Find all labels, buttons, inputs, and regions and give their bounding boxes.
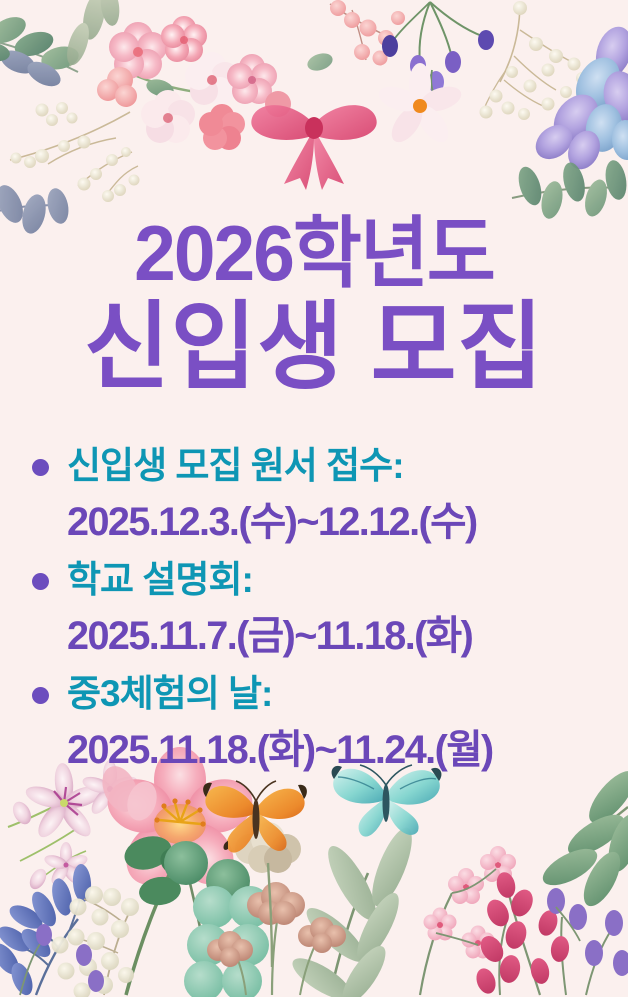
babys-breath-cluster — [52, 886, 140, 997]
rose-stem — [121, 831, 212, 995]
page-title-line2: 신입생 모집 — [9, 298, 618, 399]
eucalyptus-branch-left — [0, 12, 81, 91]
page-title-line1: 2026학년도 — [13, 214, 616, 292]
pink-cherry-blossom-cluster — [97, 16, 291, 150]
pink-ribbon-bow — [251, 105, 376, 190]
long-green-leaf-branch — [287, 823, 420, 997]
list-item: 신입생 모집 원서 접수: 2025.12.3.(수)~12.12.(수) — [0, 443, 628, 557]
violet-petal-cluster — [529, 22, 628, 174]
white-daisy-flower — [376, 63, 465, 147]
small-pink-blossoms — [420, 846, 516, 995]
bottom-floral-border — [0, 767, 628, 997]
schedule-label: 신입생 모집 원서 접수: — [67, 443, 404, 489]
beige-berry-sprig-left — [10, 102, 140, 202]
top-floral-border — [0, 0, 628, 230]
right-leaf-branch — [537, 764, 628, 911]
list-item: 중3체험의 날: 2025.11.18.(화)~11.24.(월) — [0, 671, 628, 785]
poster-canvas: 2026학년도 신입생 모집 신입생 모집 원서 접수: 2025.12.3.(… — [0, 0, 628, 997]
blue-bud-sprig — [0, 863, 92, 997]
small-lone-leaf — [305, 50, 335, 73]
headline-block: 2026학년도 신입생 모집 — [0, 214, 628, 399]
purple-bud-sprig — [20, 888, 628, 995]
schedule-date: 2025.11.18.(화)~11.24.(월) — [67, 726, 493, 774]
green-eucalyptus-rounds — [164, 841, 271, 997]
orange-butterfly — [203, 781, 307, 853]
bullet-icon — [32, 687, 49, 704]
pink-berry-branch — [330, 0, 405, 66]
schedule-label: 학교 설명회: — [67, 557, 253, 603]
schedule-label: 중3체험의 날: — [67, 671, 272, 717]
schedule-list: 신입생 모집 원서 접수: 2025.12.3.(수)~12.12.(수) 학교… — [0, 443, 628, 785]
schedule-date: 2025.12.3.(수)~12.12.(수) — [67, 498, 477, 546]
dusty-rose-yarrow — [207, 822, 346, 995]
list-item: 학교 설명회: 2025.11.7.(금)~11.18.(화) — [0, 557, 628, 671]
bullet-icon — [32, 573, 49, 590]
green-leaf-branch-right — [512, 159, 628, 221]
sage-leaf-sprig — [63, 0, 122, 68]
purple-bellflower-sprig — [382, 2, 494, 100]
schedule-date: 2025.11.7.(금)~11.18.(화) — [67, 612, 472, 660]
bullet-icon — [32, 459, 49, 476]
babys-breath-sprig — [480, 1, 589, 120]
magenta-wildflower-stem — [473, 870, 571, 996]
